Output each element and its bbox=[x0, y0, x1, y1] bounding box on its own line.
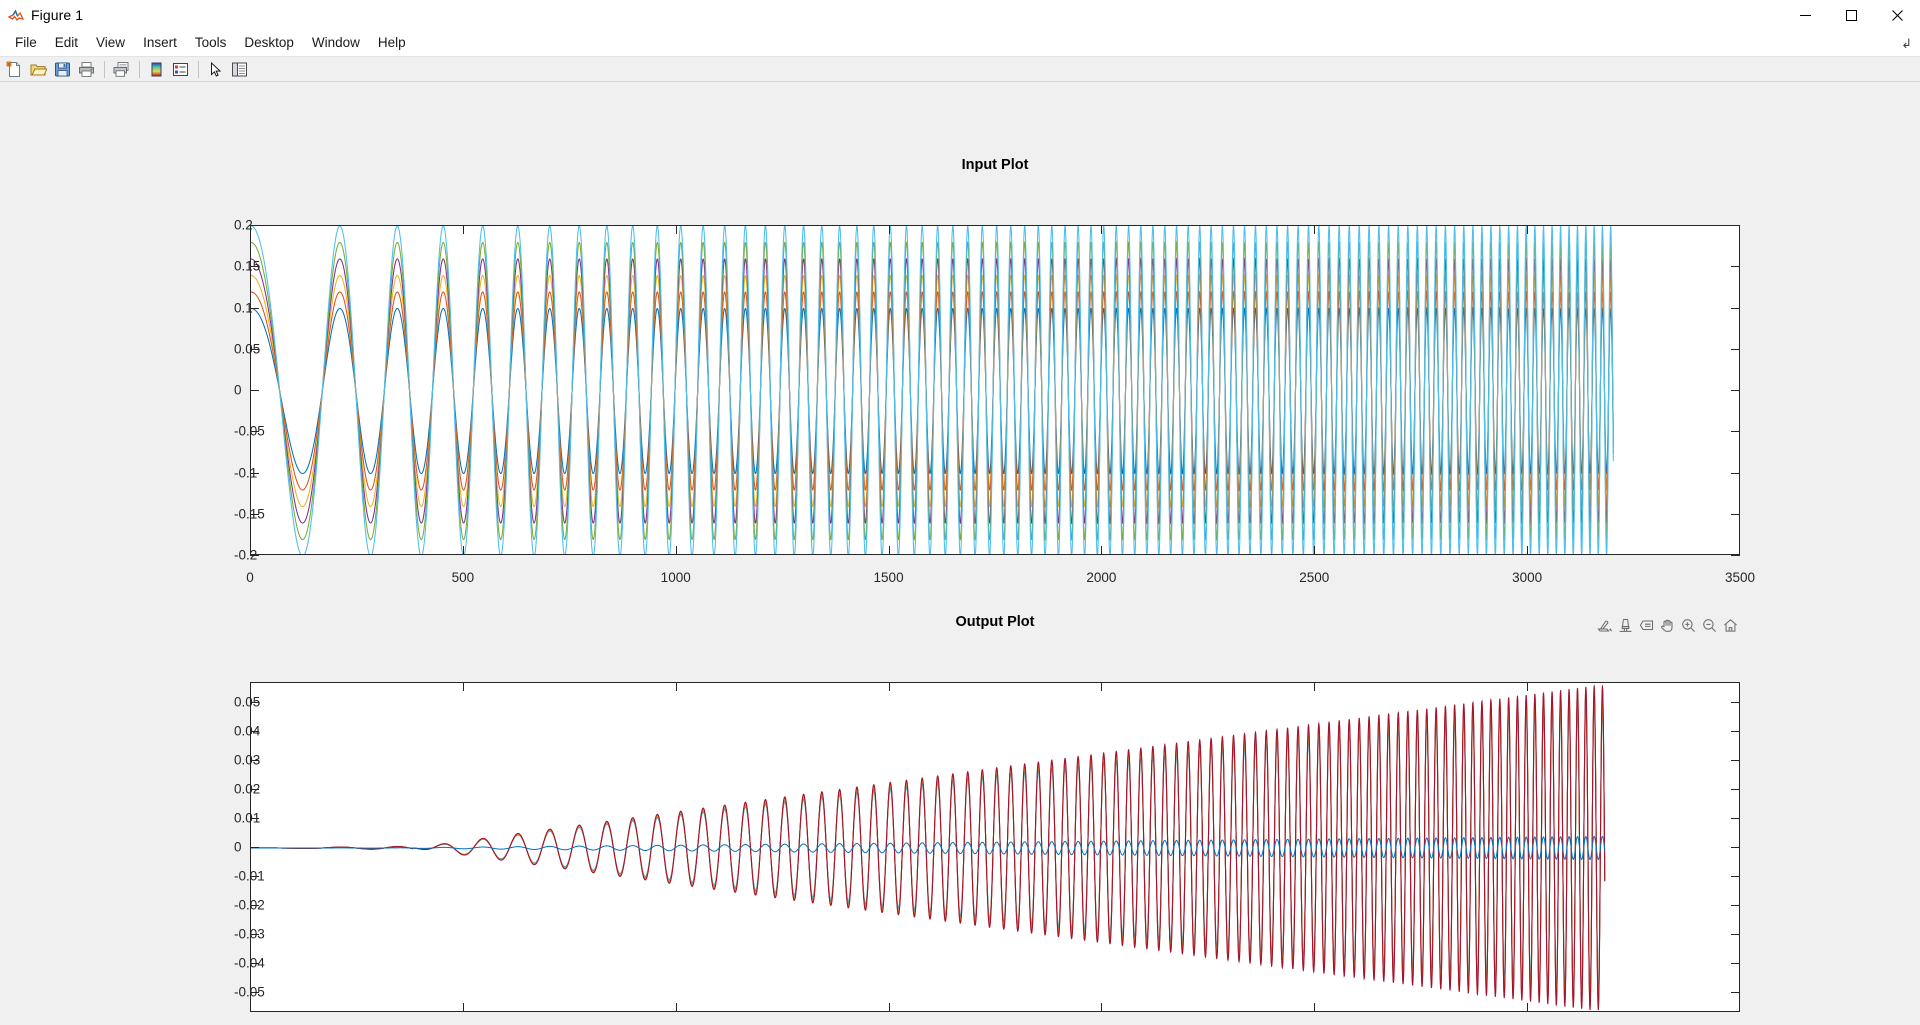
x-tick-output-plot bbox=[889, 1003, 890, 1012]
x-tick-input-plot bbox=[676, 546, 677, 555]
property-inspector-icon[interactable] bbox=[228, 58, 251, 80]
x-tick-input-plot bbox=[1739, 546, 1740, 555]
window-titlebar: Figure 1 bbox=[0, 0, 1920, 30]
edit-plot-pointer-icon[interactable] bbox=[204, 58, 227, 80]
toolbar-separator-3 bbox=[198, 61, 199, 78]
x-tick-top-output-plot bbox=[676, 682, 677, 691]
y-tick-label: 0.05 bbox=[234, 341, 238, 356]
axes-interaction-toolbar bbox=[1595, 616, 1740, 634]
menu-window[interactable]: Window bbox=[303, 31, 369, 55]
x-tick-label: 1000 bbox=[661, 570, 691, 585]
open-file-icon[interactable] bbox=[27, 58, 50, 80]
close-button[interactable] bbox=[1874, 0, 1920, 30]
input-plot-title: Input Plot bbox=[250, 157, 1740, 173]
x-tick-top-input-plot bbox=[1527, 225, 1528, 234]
output-plot-title: Output Plot bbox=[250, 614, 1740, 630]
x-tick-output-plot bbox=[250, 1003, 251, 1012]
pan-hand-icon[interactable] bbox=[1658, 616, 1677, 634]
y-tick-right-input-plot bbox=[1731, 555, 1740, 556]
x-tick-label: 2000 bbox=[1086, 570, 1116, 585]
x-tick-top-output-plot bbox=[1527, 682, 1528, 691]
axes-input-plot: Input Plot -0.2-0.15-0.1-0.0500.050.10.1… bbox=[250, 162, 1740, 562]
y-tick-label: -0.04 bbox=[234, 955, 238, 970]
y-tick-right-input-plot bbox=[1731, 266, 1740, 267]
x-tick-input-plot bbox=[1101, 546, 1102, 555]
y-tick-label: 0.04 bbox=[234, 724, 238, 739]
x-tick-label: 1500 bbox=[874, 570, 904, 585]
line-output-lowgain bbox=[251, 836, 1605, 859]
y-tick-label: 0 bbox=[234, 840, 238, 855]
x-tick-label: 500 bbox=[452, 570, 475, 585]
y-tick-label: 0.2 bbox=[234, 218, 238, 233]
menu-edit[interactable]: Edit bbox=[46, 31, 87, 55]
y-tick-label: 0 bbox=[234, 383, 238, 398]
y-tick-right-output-plot bbox=[1731, 876, 1740, 877]
menu-desktop[interactable]: Desktop bbox=[235, 31, 303, 55]
menu-insert[interactable]: Insert bbox=[134, 31, 186, 55]
x-tick-label: 3500 bbox=[1725, 570, 1755, 585]
x-tick-top-input-plot bbox=[1101, 225, 1102, 234]
input-plot-area[interactable] bbox=[250, 225, 1740, 555]
y-tick-label: -0.03 bbox=[234, 926, 238, 941]
zoom-in-icon[interactable] bbox=[1679, 616, 1698, 634]
y-tick-input-plot bbox=[250, 390, 259, 391]
x-tick-input-plot bbox=[463, 546, 464, 555]
y-tick-right-input-plot bbox=[1731, 308, 1740, 309]
y-tick-right-output-plot bbox=[1731, 963, 1740, 964]
y-tick-label: 0.05 bbox=[234, 695, 238, 710]
data-tips-icon[interactable] bbox=[1637, 616, 1656, 634]
window-title: Figure 1 bbox=[31, 7, 83, 23]
x-tick-input-plot bbox=[1314, 546, 1315, 555]
y-tick-right-input-plot bbox=[1731, 349, 1740, 350]
x-tick-output-plot bbox=[1739, 1003, 1740, 1012]
y-tick-right-input-plot bbox=[1731, 473, 1740, 474]
y-tick-label: -0.1 bbox=[234, 465, 238, 480]
minimize-button[interactable] bbox=[1782, 0, 1828, 30]
x-tick-top-output-plot bbox=[1314, 682, 1315, 691]
x-tick-output-plot bbox=[1101, 1003, 1102, 1012]
line-input-6 bbox=[251, 226, 1613, 555]
restore-home-icon[interactable] bbox=[1721, 616, 1740, 634]
x-tick-top-output-plot bbox=[889, 682, 890, 691]
window-controls bbox=[1782, 0, 1920, 30]
output-plot-area[interactable] bbox=[250, 682, 1740, 1012]
menu-help[interactable]: Help bbox=[369, 31, 415, 55]
axes-output-plot: Output Plot bbox=[250, 619, 1740, 1019]
x-tick-label: 2500 bbox=[1299, 570, 1329, 585]
y-tick-label: -0.15 bbox=[234, 506, 238, 521]
y-tick-right-input-plot bbox=[1731, 431, 1740, 432]
x-tick-top-output-plot bbox=[1101, 682, 1102, 691]
menu-tools[interactable]: Tools bbox=[186, 31, 236, 55]
menubar: File Edit View Insert Tools Desktop Wind… bbox=[0, 30, 1920, 56]
new-figure-icon[interactable] bbox=[3, 58, 26, 80]
x-tick-top-output-plot bbox=[1739, 682, 1740, 691]
y-tick-label: -0.2 bbox=[234, 548, 238, 563]
x-tick-top-input-plot bbox=[889, 225, 890, 234]
y-tick-label: 0.01 bbox=[234, 811, 238, 826]
y-tick-right-output-plot bbox=[1731, 702, 1740, 703]
y-tick-right-output-plot bbox=[1731, 818, 1740, 819]
x-tick-output-plot bbox=[676, 1003, 677, 1012]
output-plot-curves bbox=[251, 683, 1740, 1012]
x-tick-input-plot bbox=[1527, 546, 1528, 555]
save-figure-icon[interactable] bbox=[51, 58, 74, 80]
x-tick-output-plot bbox=[1314, 1003, 1315, 1012]
x-tick-top-input-plot bbox=[250, 225, 251, 234]
x-tick-top-output-plot bbox=[463, 682, 464, 691]
insert-colorbar-icon[interactable] bbox=[145, 58, 168, 80]
print-figure-icon[interactable] bbox=[75, 58, 98, 80]
y-tick-right-output-plot bbox=[1731, 731, 1740, 732]
x-tick-top-input-plot bbox=[676, 225, 677, 234]
y-tick-right-output-plot bbox=[1731, 847, 1740, 848]
y-tick-right-output-plot bbox=[1731, 905, 1740, 906]
menubar-overflow-icon[interactable]: ↲ bbox=[1901, 36, 1912, 52]
input-plot-curves bbox=[251, 226, 1740, 555]
maximize-button[interactable] bbox=[1828, 0, 1874, 30]
data-brush-icon[interactable] bbox=[1616, 616, 1635, 634]
y-tick-output-plot bbox=[250, 847, 259, 848]
x-tick-input-plot bbox=[889, 546, 890, 555]
x-tick-output-plot bbox=[463, 1003, 464, 1012]
x-tick-top-output-plot bbox=[250, 682, 251, 691]
x-tick-top-input-plot bbox=[1314, 225, 1315, 234]
y-tick-right-input-plot bbox=[1731, 390, 1740, 391]
zoom-out-icon[interactable] bbox=[1700, 616, 1719, 634]
figure-canvas[interactable]: Input Plot -0.2-0.15-0.1-0.0500.050.10.1… bbox=[0, 82, 1920, 1025]
x-tick-output-plot bbox=[1527, 1003, 1528, 1012]
y-tick-label: -0.01 bbox=[234, 868, 238, 883]
toolbar-separator-2 bbox=[139, 61, 140, 78]
print-preview-icon[interactable] bbox=[110, 58, 133, 80]
matlab-figure-icon bbox=[8, 7, 24, 23]
insert-legend-icon[interactable] bbox=[169, 58, 192, 80]
export-save-icon[interactable] bbox=[1595, 616, 1614, 634]
y-tick-right-output-plot bbox=[1731, 992, 1740, 993]
y-tick-right-output-plot bbox=[1731, 789, 1740, 790]
y-tick-label: -0.05 bbox=[234, 984, 238, 999]
menu-file[interactable]: File bbox=[6, 31, 46, 55]
y-tick-label: -0.05 bbox=[234, 424, 238, 439]
menu-view[interactable]: View bbox=[87, 31, 134, 55]
x-tick-input-plot bbox=[250, 546, 251, 555]
y-tick-label: -0.02 bbox=[234, 897, 238, 912]
x-tick-top-input-plot bbox=[463, 225, 464, 234]
y-tick-right-output-plot bbox=[1731, 934, 1740, 935]
x-tick-top-input-plot bbox=[1739, 225, 1740, 234]
toolbar-separator-1 bbox=[104, 61, 105, 78]
y-tick-right-input-plot bbox=[1731, 514, 1740, 515]
y-tick-label: 0.15 bbox=[234, 259, 238, 274]
x-tick-label: 3000 bbox=[1512, 570, 1542, 585]
x-tick-label: 0 bbox=[246, 570, 254, 585]
y-tick-label: 0.1 bbox=[234, 300, 238, 315]
y-tick-right-output-plot bbox=[1731, 760, 1740, 761]
figure-toolbar bbox=[0, 56, 1920, 82]
y-tick-label: 0.03 bbox=[234, 753, 238, 768]
y-tick-label: 0.02 bbox=[234, 782, 238, 797]
